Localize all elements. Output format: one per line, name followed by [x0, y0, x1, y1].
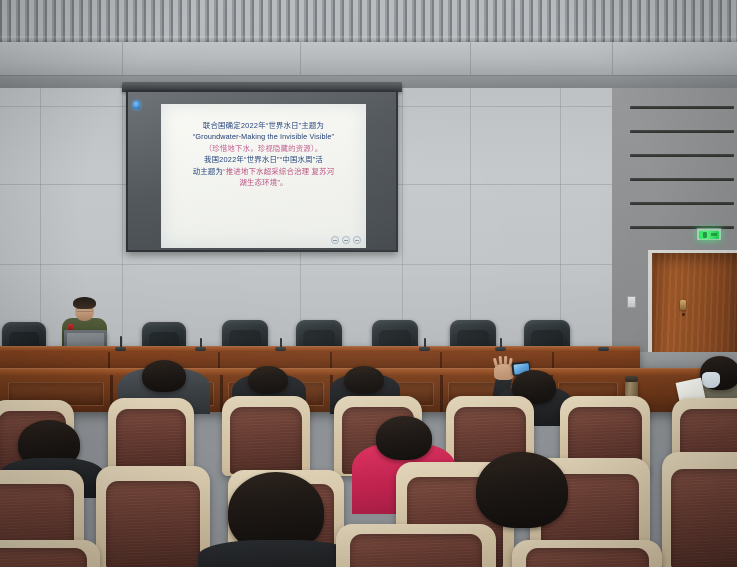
prev-slide-icon[interactable]: [331, 236, 339, 244]
seat-cushion: [350, 534, 481, 567]
slide-paragraph-2: 我国2022年“世界水日”“中国水周”活 动主题为“推进地下水超采综合治理 复苏…: [170, 154, 357, 188]
face-mask: [702, 372, 720, 388]
thermos-cap: [625, 376, 638, 382]
slide-p1-line1: 联合国确定2022年“世界水日”主题为: [170, 120, 357, 131]
head-table-top: [0, 346, 640, 352]
projection-screen: 联合国确定2022年“世界水日”主题为 “Groundwater-Making …: [126, 90, 398, 252]
ceiling-slat-panel: [0, 0, 737, 42]
door-handle-icon[interactable]: [680, 300, 686, 310]
microphone-base: [598, 347, 609, 351]
auditorium-seat[interactable]: [0, 540, 100, 567]
slide-paragraph-1: 联合国确定2022年“世界水日”主题为 “Groundwater-Making …: [170, 120, 357, 154]
auditorium-seat[interactable]: [222, 396, 310, 476]
auditorium-seat[interactable]: [108, 398, 194, 476]
emergency-exit-sign: [696, 228, 722, 241]
auditorium-seat[interactable]: [336, 524, 496, 567]
auditorium-seat[interactable]: [662, 452, 737, 567]
seat-cushion: [0, 548, 87, 567]
seat-cushion: [116, 409, 187, 475]
seat-cushion: [671, 469, 737, 567]
slide-p1-line2: “Groundwater-Making the Invisible Visibl…: [170, 131, 357, 142]
slide-p2-line3: 湖生态环境”。: [170, 177, 357, 188]
next-slide-icon[interactable]: [353, 236, 361, 244]
slide-controls[interactable]: [331, 236, 361, 244]
microphone-base: [195, 347, 206, 351]
foreground-attendee-shoulders: [198, 540, 356, 567]
microphone-base: [419, 347, 430, 351]
microphone-base: [495, 347, 506, 351]
presenter-glasses-icon: [76, 308, 93, 312]
finger: [504, 356, 507, 365]
foreground-attendee-head: [476, 452, 568, 528]
ceiling-beam: [0, 42, 737, 76]
slide-p1-line3: （珍惜地下水，珍视隐藏的资源）。: [170, 143, 357, 154]
microphone-base: [115, 347, 126, 351]
presentation-slide: 联合国确定2022年“世界水日”主题为 “Groundwater-Making …: [161, 104, 366, 248]
exit-icon: [699, 231, 719, 239]
audience-member-head: [248, 366, 288, 394]
microphone-base: [275, 347, 286, 351]
light-switch[interactable]: [627, 296, 636, 308]
conference-hall-photo: 联合国确定2022年“世界水日”主题为 “Groundwater-Making …: [0, 0, 737, 567]
pen-tool-icon[interactable]: [342, 236, 350, 244]
auditorium-seat[interactable]: [96, 466, 210, 567]
auditorium-seat[interactable]: [512, 540, 662, 567]
seat-cushion: [230, 407, 302, 474]
door-keyhole-icon: [682, 313, 685, 316]
red-jacket-attendee-head: [376, 416, 432, 460]
slide-p2-line2: 动主题为“推进地下水超采综合治理 复苏河: [170, 166, 357, 177]
slide-p2-line1: 我国2022年“世界水日”“中国水周”活: [170, 154, 357, 165]
audience-member-head: [142, 360, 186, 392]
seat-cushion: [106, 481, 199, 567]
seat-cushion: [526, 548, 649, 567]
audience-member-head: [344, 366, 384, 394]
screen-power-indicator-icon: [133, 101, 140, 109]
